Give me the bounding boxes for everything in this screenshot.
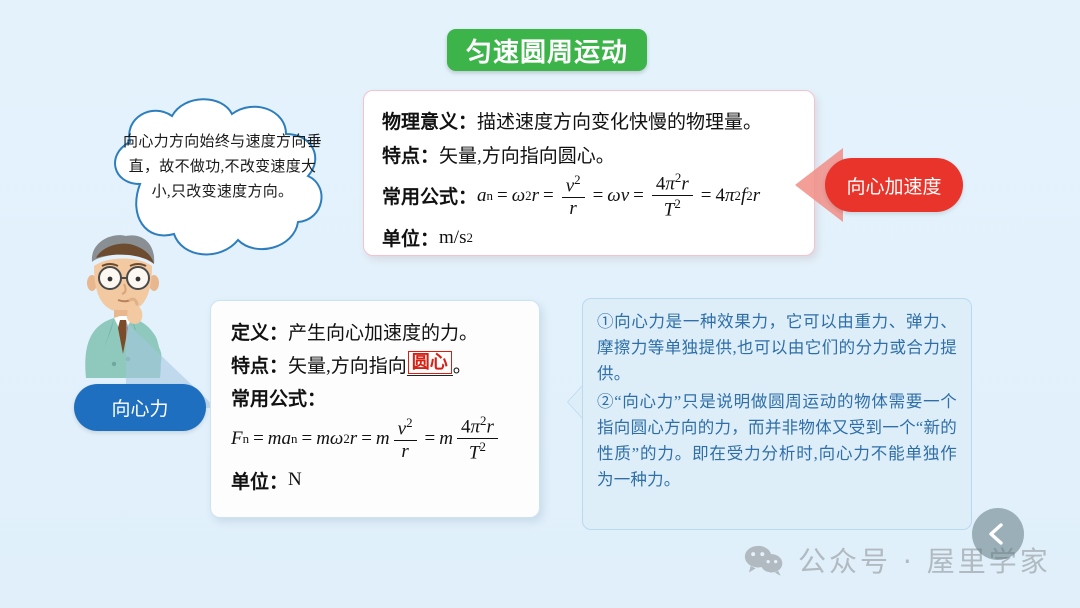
back-button[interactable] bbox=[972, 508, 1024, 560]
force-feature-prefix: 矢量,方向指向 bbox=[288, 351, 407, 378]
acceleration-banner-label: 向心加速度 bbox=[846, 172, 941, 199]
acceleration-meaning-label: 物理意义： bbox=[382, 107, 477, 134]
acceleration-unit-value: m/s2 bbox=[439, 227, 473, 249]
force-row-formula-label: 常用公式： bbox=[231, 381, 525, 414]
force-banner: 向心力 bbox=[74, 322, 219, 437]
force-formula-label: 常用公式： bbox=[231, 384, 326, 411]
acceleration-formula: an= ω2r= v2r =ωv= 4π2rT2 =4π2f2r bbox=[477, 171, 760, 221]
notes-callout: ①向心力是一种效果力，它可以由重力、弹力、摩擦力等单独提供,也可以由它们的分力或… bbox=[568, 298, 972, 530]
force-formula: Fn= man= mω2r= m v2r =m 4π2rT2 bbox=[231, 414, 502, 464]
force-unit-value: N bbox=[288, 469, 302, 491]
acceleration-card: 物理意义： 描述速度方向变化快慢的物理量。 特点： 矢量,方向指向圆心。 常用公… bbox=[363, 90, 815, 256]
force-unit-label: 单位： bbox=[231, 467, 288, 494]
page-title: 匀速圆周运动 bbox=[466, 32, 628, 69]
page-title-badge: 匀速圆周运动 bbox=[447, 29, 647, 71]
notes-callout-body: ①向心力是一种效果力，它可以由重力、弹力、摩擦力等单独提供,也可以由它们的分力或… bbox=[582, 298, 972, 530]
note-paragraph-1: ①向心力是一种效果力，它可以由重力、弹力、摩擦力等单独提供,也可以由它们的分力或… bbox=[597, 309, 957, 387]
acceleration-unit-label: 单位： bbox=[382, 224, 439, 251]
note-paragraph-2: ②“向心力”只是说明做圆周运动的物体需要一个指向圆心方向的力，而并非物体又受到一… bbox=[597, 389, 957, 493]
force-row-unit: 单位： N bbox=[231, 464, 525, 497]
force-definition-value: 产生向心加速度的力。 bbox=[288, 318, 478, 345]
force-feature-label: 特点： bbox=[231, 351, 288, 378]
force-banner-pill: 向心力 bbox=[74, 384, 206, 431]
acceleration-row-meaning: 物理意义： 描述速度方向变化快慢的物理量。 bbox=[382, 103, 798, 137]
slide-canvas: 匀速圆周运动 向心力方向始终与速度方向垂直，故不做功,不改变速度大小,只改变速度… bbox=[0, 0, 1080, 608]
acceleration-formula-label: 常用公式： bbox=[382, 182, 477, 209]
acceleration-banner-pill: 向心加速度 bbox=[825, 158, 963, 212]
acceleration-feature-label: 特点： bbox=[382, 141, 439, 168]
chevron-left-icon bbox=[985, 521, 1011, 547]
force-definition-label: 定义： bbox=[231, 318, 288, 345]
force-feature-underline: 圆心 bbox=[407, 353, 453, 376]
force-feature-highlight: 圆心 bbox=[408, 351, 452, 374]
wechat-icon bbox=[744, 544, 784, 576]
acceleration-feature-value: 矢量,方向指向圆心。 bbox=[439, 141, 615, 168]
force-banner-label: 向心力 bbox=[111, 394, 168, 421]
acceleration-row-unit: 单位： m/s2 bbox=[382, 221, 798, 255]
force-row-formula: Fn= man= mω2r= m v2r =m 4π2rT2 bbox=[231, 414, 525, 464]
acceleration-row-feature: 特点： 矢量,方向指向圆心。 bbox=[382, 137, 798, 171]
acceleration-row-formula: 常用公式： an= ω2r= v2r =ωv= 4π2rT2 =4π2f2r bbox=[382, 171, 798, 221]
acceleration-banner: 向心加速度 bbox=[795, 148, 963, 222]
force-feature-suffix: 。 bbox=[453, 351, 472, 378]
thought-cloud-text: 向心力方向始终与速度方向垂直，故不做功,不改变速度大小,只改变速度方向。 bbox=[120, 130, 325, 205]
acceleration-meaning-value: 描述速度方向变化快慢的物理量。 bbox=[477, 107, 762, 134]
force-row-definition: 定义： 产生向心加速度的力。 bbox=[231, 315, 525, 348]
force-row-feature: 特点： 矢量,方向指向 圆心 。 bbox=[231, 348, 525, 381]
force-card: 定义： 产生向心加速度的力。 特点： 矢量,方向指向 圆心 。 常用公式： Fn… bbox=[210, 300, 540, 518]
